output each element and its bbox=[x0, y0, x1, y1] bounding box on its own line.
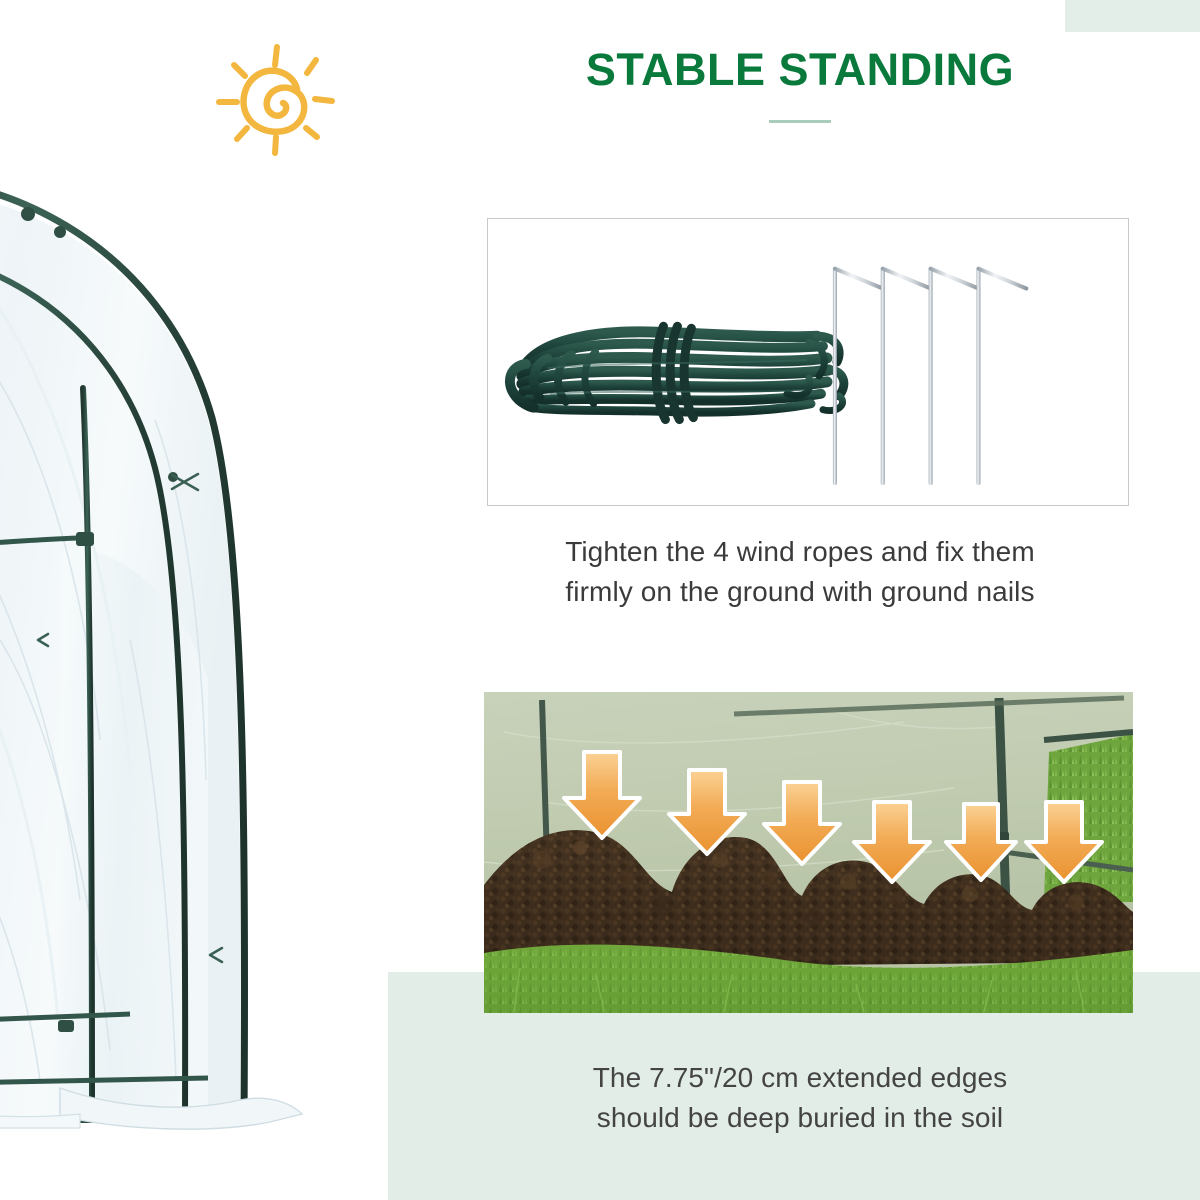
title-divider bbox=[769, 120, 831, 123]
soil-caption-line-1: The 7.75"/20 cm extended edges bbox=[480, 1058, 1120, 1098]
rope-caption-line-1: Tighten the 4 wind ropes and fix them bbox=[480, 532, 1120, 572]
soil-caption: The 7.75"/20 cm extended edges should be… bbox=[480, 1058, 1120, 1138]
soil-caption-line-2: should be deep buried in the soil bbox=[480, 1098, 1120, 1138]
headline-block: STABLE STANDING bbox=[480, 46, 1120, 123]
wind-rope-bundle bbox=[510, 326, 844, 419]
ground-nail-group bbox=[833, 267, 1026, 485]
mint-corner-block-top-right bbox=[1065, 0, 1200, 32]
rope-caption: Tighten the 4 wind ropes and fix them fi… bbox=[480, 532, 1120, 612]
infographic-page: STABLE STANDING bbox=[0, 0, 1200, 1200]
soil-burial-image bbox=[484, 692, 1133, 1013]
accessories-panel bbox=[487, 218, 1129, 506]
greenhouse-product-image bbox=[0, 120, 360, 1130]
page-title: STABLE STANDING bbox=[480, 46, 1120, 93]
sun-doodle-icon bbox=[205, 33, 355, 165]
rope-caption-line-2: firmly on the ground with ground nails bbox=[480, 572, 1120, 612]
